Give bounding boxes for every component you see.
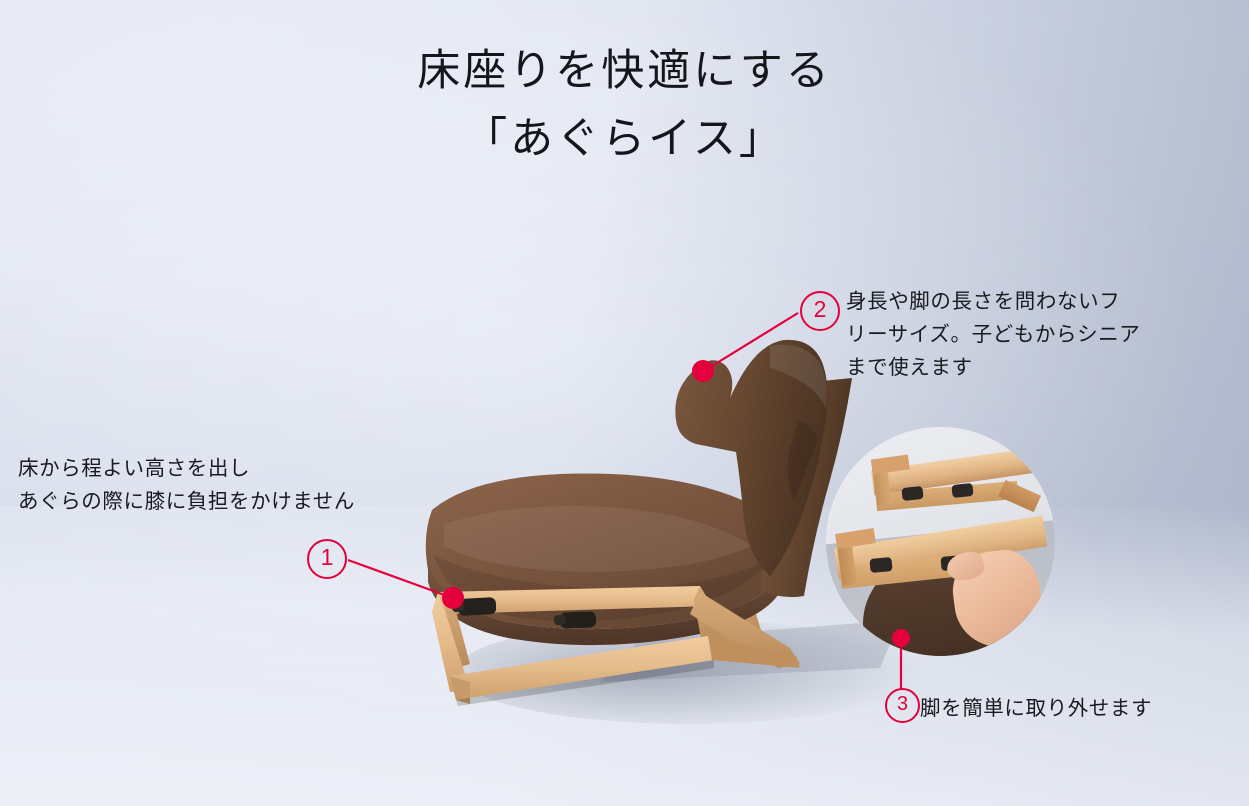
black-thumb-knob [869,557,892,573]
product-photo-chair [0,0,1249,806]
annotation-marker-1[interactable]: 1 [307,539,347,579]
inset-detail-photo [826,427,1055,656]
annotation-marker-2[interactable]: 2 [800,291,840,331]
annotation-text-1: 床から程よい高さを出し あぐらの際に膝に負担をかけません [18,452,355,518]
black-thumb-knob [951,483,973,498]
annotation-text-2: 身長や脚の長さを問わないフ リーサイズ。子どもからシニア まで使えます [846,285,1196,385]
annotation-text-3: 脚を簡単に取り外せます [920,692,1152,725]
black-thumb-knob [901,485,923,500]
annotation-marker-3[interactable]: 3 [885,688,920,723]
product-feature-image: 床座りを快適にする 「あぐらイス」 床から程よい高さを出し あぐらの際に膝に負担… [0,0,1249,806]
